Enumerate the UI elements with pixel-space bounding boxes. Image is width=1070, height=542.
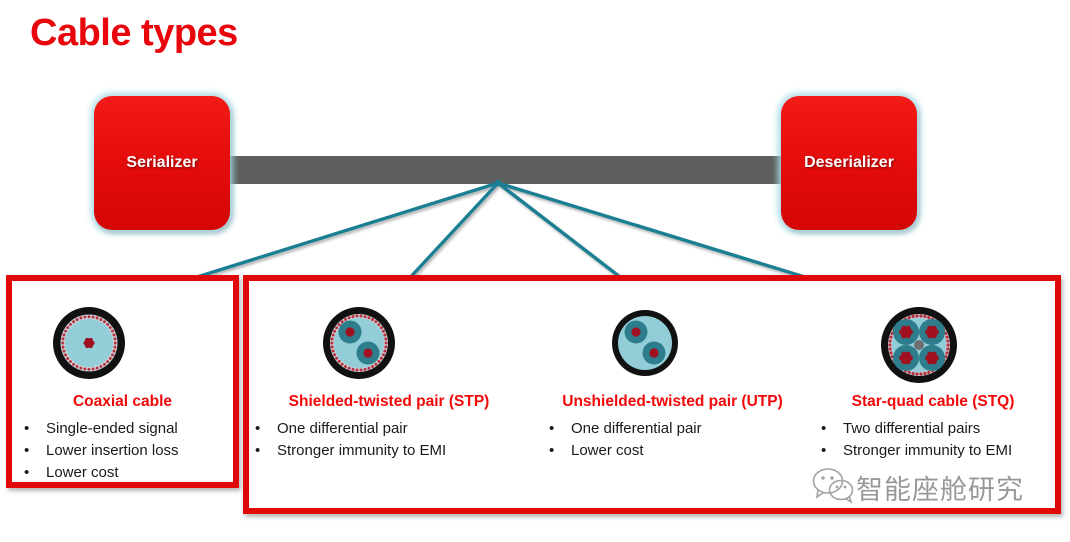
list-item: • Single-ended signal xyxy=(24,418,234,440)
bullet-glyph: • xyxy=(821,440,843,462)
utp-heading: Unshielded-twisted pair (UTP) xyxy=(525,393,820,411)
cable-card-stp: Shielded-twisted pair (STP) • One differ… xyxy=(249,281,529,508)
stq-bullet-list: • Two differential pairs • Stronger immu… xyxy=(821,418,1026,462)
list-item: • Lower cost xyxy=(549,440,814,462)
coaxial-bullet-list: • Single-ended signal • Lower insertion … xyxy=(24,418,234,484)
list-item: • Lower cost xyxy=(24,462,234,484)
stq-heading: Star-quad cable (STQ) xyxy=(811,393,1055,411)
arrow-origin-node xyxy=(495,180,502,187)
coaxial-cable-cross-section-icon xyxy=(45,299,133,392)
stp-heading: Shielded-twisted pair (STP) xyxy=(249,393,529,411)
coaxial-heading: Coaxial cable xyxy=(12,393,233,411)
bullet-glyph: • xyxy=(549,440,571,462)
utp-bullet-list: • One differential pair • Lower cost xyxy=(549,418,814,462)
list-item-text: Single-ended signal xyxy=(46,418,234,440)
bullet-glyph: • xyxy=(255,418,277,440)
list-item: • Stronger immunity to EMI xyxy=(821,440,1026,462)
list-item: • One differential pair xyxy=(549,418,814,440)
list-item-text: Lower insertion loss xyxy=(46,440,234,462)
twisted-pair-cables-panel: Shielded-twisted pair (STP) • One differ… xyxy=(243,275,1061,514)
list-item-text: Lower cost xyxy=(46,462,234,484)
cable-card-stq: Star-quad cable (STQ) • Two differential… xyxy=(811,281,1055,508)
list-item-text: Two differential pairs xyxy=(843,418,1026,440)
list-item-text: Stronger immunity to EMI xyxy=(277,440,505,462)
list-item-text: One differential pair xyxy=(277,418,505,440)
bullet-glyph: • xyxy=(24,462,46,484)
list-item-text: Lower cost xyxy=(571,440,814,462)
cable-card-utp: Unshielded-twisted pair (UTP) • One diff… xyxy=(525,281,820,508)
bullet-glyph: • xyxy=(24,418,46,440)
bullet-glyph: • xyxy=(821,418,843,440)
bullet-glyph: • xyxy=(549,418,571,440)
coaxial-cable-panel: Coaxial cable • Single-ended signal • Lo… xyxy=(6,275,239,488)
bullet-glyph: • xyxy=(255,440,277,462)
list-item: • Stronger immunity to EMI xyxy=(255,440,505,462)
list-item-text: One differential pair xyxy=(571,418,814,440)
bullet-glyph: • xyxy=(24,440,46,462)
list-item-text: Stronger immunity to EMI xyxy=(843,440,1026,462)
list-item: • One differential pair xyxy=(255,418,505,440)
list-item: • Two differential pairs xyxy=(821,418,1026,440)
unshielded-twisted-pair-cross-section-icon xyxy=(601,299,689,392)
cable-card-coaxial: Coaxial cable • Single-ended signal • Lo… xyxy=(12,281,233,482)
stp-bullet-list: • One differential pair • Stronger immun… xyxy=(255,418,505,462)
star-quad-cable-cross-section-icon xyxy=(873,299,965,396)
list-item: • Lower insertion loss xyxy=(24,440,234,462)
shielded-twisted-pair-cross-section-icon xyxy=(315,299,403,392)
